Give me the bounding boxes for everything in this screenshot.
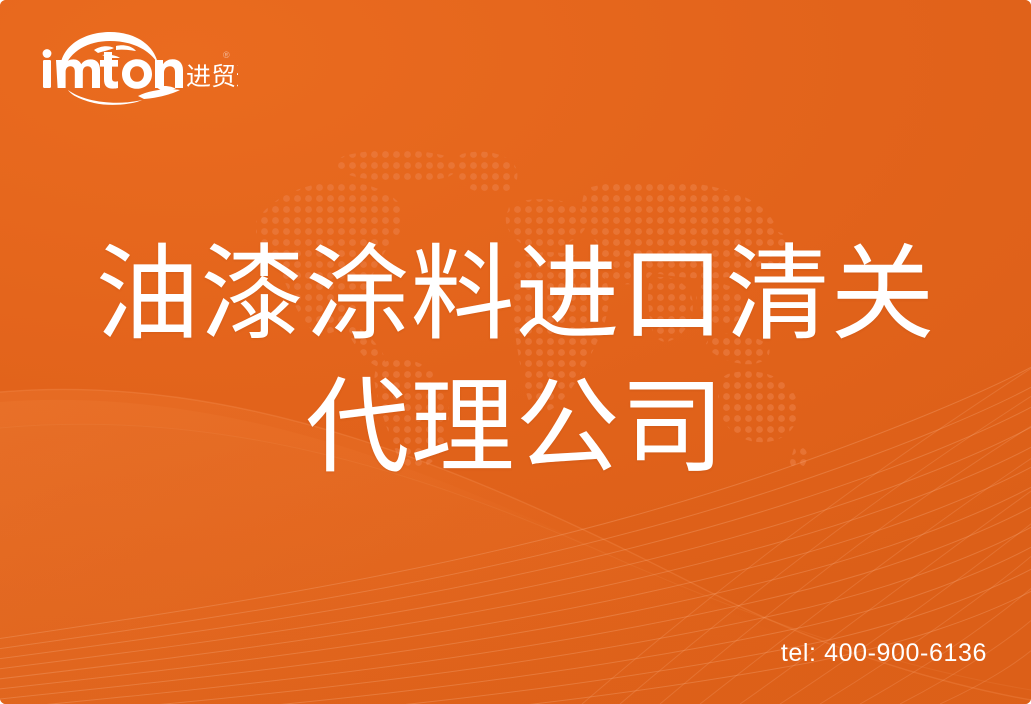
headline-line-1: 油漆涂料进口清关 (0, 228, 1031, 361)
ship-swoosh-icon (68, 86, 180, 105)
registered-trademark-icon: ® (223, 50, 230, 60)
page-title: 油漆涂料进口清关 代理公司 (0, 228, 1031, 494)
promo-banner: 进贸通 ® 油漆涂料进口清关 代理公司 tel: 400-900-6136 (0, 0, 1031, 704)
contact-phone[interactable]: tel: 400-900-6136 (781, 639, 987, 668)
logo-chinese-name: 进贸通 (186, 62, 238, 91)
headline-line-2: 代理公司 (0, 361, 1031, 494)
company-logo[interactable]: 进贸通 ® (38, 28, 238, 106)
